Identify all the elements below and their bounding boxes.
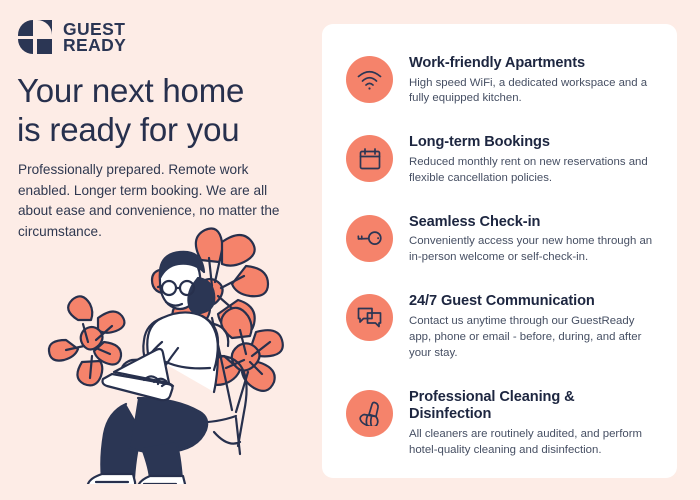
list-item[interactable]: Work-friendly Apartments High speed WiFi… bbox=[346, 54, 655, 107]
brand-line-2: READY bbox=[63, 37, 126, 53]
feature-title: 24/7 Guest Communication bbox=[409, 293, 655, 311]
wifi-icon bbox=[346, 56, 393, 103]
chat-bubbles-icon bbox=[346, 294, 393, 341]
left-column: GUEST READY Your next home is ready for … bbox=[0, 0, 322, 500]
list-item[interactable]: Seamless Check-in Conveniently access yo… bbox=[346, 213, 655, 266]
list-item[interactable]: 24/7 Guest Communication Contact us anyt… bbox=[346, 292, 655, 361]
headline-line-2: is ready for you bbox=[17, 111, 239, 148]
list-item[interactable]: Professional Cleaning & Disinfection All… bbox=[346, 388, 655, 459]
feature-text: Professional Cleaning & Disinfection All… bbox=[409, 388, 655, 459]
feature-description: Conveniently access your new home throug… bbox=[409, 234, 655, 266]
list-item[interactable]: Long-term Bookings Reduced monthly rent … bbox=[346, 133, 655, 186]
feature-list: Work-friendly Apartments High speed WiFi… bbox=[346, 54, 655, 459]
feature-title: Professional Cleaning & Disinfection bbox=[409, 389, 655, 424]
feature-text: 24/7 Guest Communication Contact us anyt… bbox=[409, 292, 655, 361]
features-card: Work-friendly Apartments High speed WiFi… bbox=[322, 24, 677, 478]
brand-lockup: GUEST READY bbox=[16, 18, 126, 56]
feature-text: Long-term Bookings Reduced monthly rent … bbox=[409, 133, 655, 186]
calendar-icon bbox=[346, 135, 393, 182]
feature-text: Seamless Check-in Conveniently access yo… bbox=[409, 213, 655, 266]
feature-description: All cleaners are routinely audited, and … bbox=[409, 427, 655, 459]
page-title: Your next home is ready for you bbox=[17, 72, 312, 150]
headline-line-1: Your next home bbox=[17, 72, 244, 109]
feature-description: Contact us anytime through our GuestRead… bbox=[409, 314, 655, 362]
guestready-quadrant-logo-icon bbox=[16, 18, 54, 56]
key-icon bbox=[346, 215, 393, 262]
feature-title: Seamless Check-in bbox=[409, 214, 655, 232]
promo-poster: GUEST READY Your next home is ready for … bbox=[0, 0, 700, 500]
feature-description: High speed WiFi, a dedicated workspace a… bbox=[409, 76, 655, 108]
feature-title: Work-friendly Apartments bbox=[409, 55, 655, 73]
feature-title: Long-term Bookings bbox=[409, 134, 655, 152]
broom-icon bbox=[346, 390, 393, 437]
feature-description: Reduced monthly rent on new reservations… bbox=[409, 155, 655, 187]
brand-wordmark: GUEST READY bbox=[63, 21, 126, 54]
feature-text: Work-friendly Apartments High speed WiFi… bbox=[409, 54, 655, 107]
woman-working-on-laptop-illustration bbox=[26, 222, 316, 484]
